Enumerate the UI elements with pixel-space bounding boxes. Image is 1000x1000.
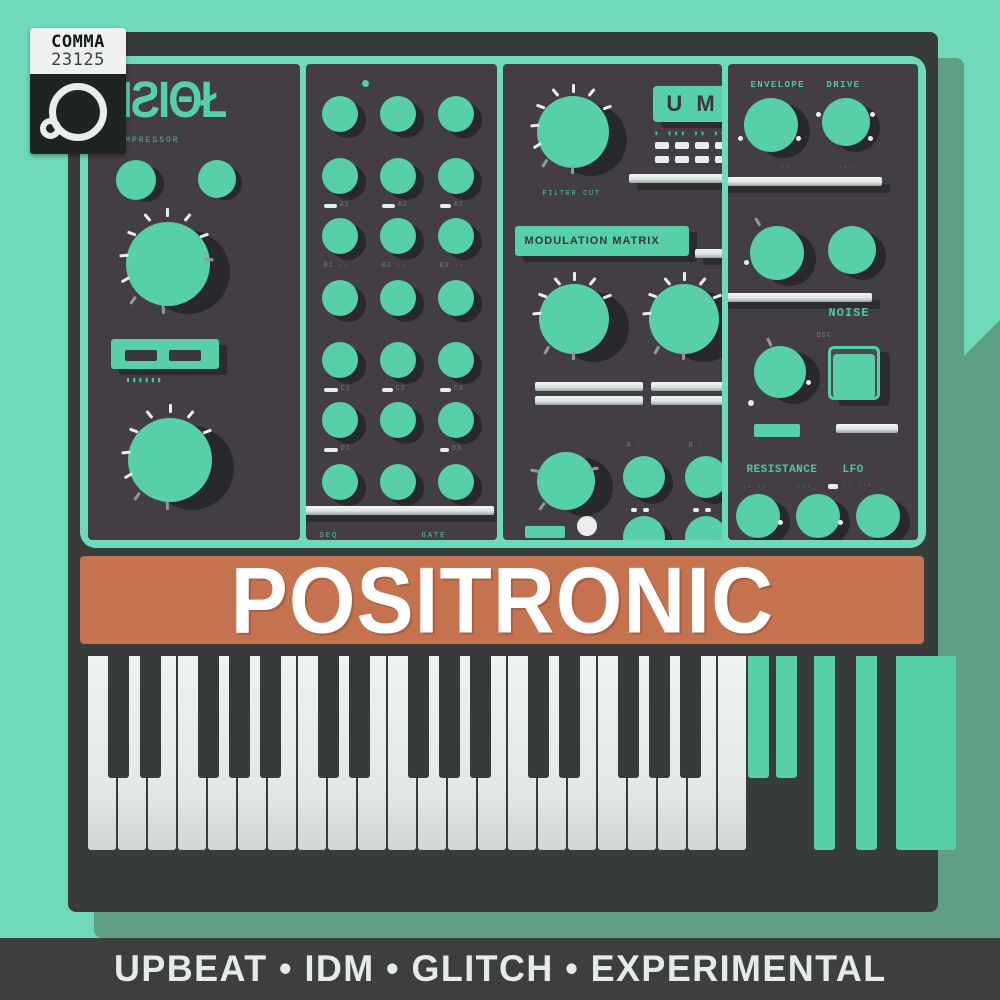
knob-tick [698, 277, 706, 286]
panel-filter: FILTER CUT U M ▮ ▮▮▮ ▮▮ ▮▮ ▮▮ ▮ [503, 64, 723, 540]
accent-key-wide[interactable] [896, 656, 956, 850]
button-mod-d[interactable] [685, 516, 723, 540]
black-key[interactable] [349, 656, 370, 778]
matrix-button[interactable] [380, 218, 416, 254]
knob-tick [538, 293, 547, 299]
chip-caption: ▮▮▮▮▮▮ [126, 376, 163, 385]
black-key[interactable] [198, 656, 219, 778]
status-led [362, 80, 369, 87]
knob-tick [143, 213, 151, 222]
matrix-label: · [382, 445, 387, 453]
knob-tick [767, 337, 774, 346]
badge-brand: COMMA [51, 34, 105, 51]
knob-dot [816, 112, 821, 117]
knob-tick [127, 231, 136, 237]
matrix-bottom-label-left: SEQ [320, 532, 339, 540]
matrix-button[interactable] [438, 158, 474, 194]
level-led-bar [525, 526, 565, 538]
matrix-bottom-label-right: GATE [422, 532, 447, 540]
matrix-button[interactable] [438, 402, 474, 438]
black-key[interactable] [229, 656, 250, 778]
knob-tick [572, 351, 575, 360]
display-seg [655, 142, 669, 149]
matrix-label: B2 ·· [382, 262, 407, 270]
black-key[interactable] [618, 656, 639, 778]
badge-number: 23125 [51, 52, 105, 69]
matrix-button[interactable] [322, 342, 358, 378]
knob-osc-a[interactable] [116, 160, 156, 200]
slider-amp-top[interactable] [728, 177, 882, 186]
matrix-button[interactable] [380, 464, 416, 500]
knob-tick [551, 88, 559, 97]
matrix-label: C2 [396, 385, 406, 393]
matrix-button[interactable] [438, 464, 474, 500]
matrix-label: A1 [340, 201, 350, 209]
amp-sublabel: ·· ·· [742, 484, 767, 492]
display-seg [675, 142, 689, 149]
matrix-button[interactable] [380, 280, 416, 316]
genre-list: UPBEAT • IDM • GLITCH • EXPERIMENTAL [114, 948, 887, 990]
knob-tick [133, 492, 141, 501]
matrix-button[interactable] [380, 158, 416, 194]
knob-tick [166, 208, 169, 217]
amp-led [828, 484, 838, 489]
cluster-label: B · [689, 442, 704, 450]
um-display: U M [653, 86, 723, 122]
knob-tick [587, 88, 595, 97]
amp-sublabel: ··· [796, 484, 811, 492]
knob-tick [129, 428, 138, 434]
knob-tick [169, 404, 172, 413]
black-key[interactable] [649, 656, 670, 778]
knob-tick [162, 305, 165, 314]
matrix-button[interactable] [322, 96, 358, 132]
white-key[interactable] [718, 656, 746, 850]
amp-sublabel: ·· [780, 164, 790, 172]
comma-badge: COMMA 23125 [30, 28, 126, 154]
matrix-label: A3 [454, 201, 464, 209]
accent-black-key[interactable] [748, 656, 769, 778]
black-key[interactable] [318, 656, 339, 778]
matrix-button[interactable] [322, 158, 358, 194]
knob-tick [536, 104, 545, 110]
slider-amp-mid[interactable] [728, 293, 872, 302]
knob-env-level[interactable] [537, 452, 595, 510]
knob-dot [748, 400, 754, 406]
knob-resonance-main[interactable] [128, 418, 212, 502]
button-led [705, 508, 711, 512]
led-seg-b [169, 350, 201, 361]
slider-env-b[interactable] [535, 396, 643, 405]
button-led [643, 508, 649, 512]
matrix-led [440, 448, 449, 452]
display-seg [655, 156, 669, 163]
matrix-led [382, 388, 393, 392]
knob-mod-rate[interactable] [649, 284, 719, 354]
badge-caption: COMMA 23125 [30, 28, 126, 74]
knob-tick [166, 501, 169, 510]
matrix-button[interactable] [322, 402, 358, 438]
amp-label-drive: DRIVE [826, 80, 860, 90]
led-seg-a [125, 350, 157, 361]
display-seg [675, 156, 689, 163]
matrix-label: C3 [454, 385, 464, 393]
black-key[interactable] [559, 656, 580, 778]
knob-tick [653, 345, 660, 354]
amp-label-envelope: ENVELOPE [750, 80, 804, 90]
amp-sublabel: ··· [838, 164, 853, 172]
matrix-led [440, 204, 451, 208]
knob-osc-b[interactable] [198, 160, 236, 198]
matrix-button[interactable] [322, 464, 358, 500]
knob-cutoff-main[interactable] [126, 222, 210, 306]
genre-banner: UPBEAT • IDM • GLITCH • EXPERIMENTAL [0, 938, 1000, 1000]
control-surface: MƧIΘŁ DECOMPRESSOR [80, 56, 926, 548]
amp-label-osc: OSC [816, 332, 831, 340]
matrix-led [324, 204, 337, 208]
black-key[interactable] [260, 656, 281, 778]
panel-amp: ENVELOPE DRIVE ·· ··· [728, 64, 918, 540]
matrix-button[interactable] [322, 218, 358, 254]
matrix-label: C1 [341, 385, 351, 393]
matrix-label: D3 [452, 445, 462, 453]
black-key[interactable] [140, 656, 161, 778]
knob-tick [572, 84, 575, 93]
knob-tick [683, 272, 686, 281]
knob-tick [538, 502, 546, 511]
knob-tick [588, 277, 596, 286]
black-key[interactable] [108, 656, 129, 778]
matrix-led [382, 204, 395, 208]
black-key[interactable] [528, 656, 549, 778]
slider-amp-small[interactable] [836, 424, 898, 433]
matrix-led [324, 388, 338, 392]
amp-label-resistance: RESISTANCE [746, 464, 817, 476]
knob-tick [543, 345, 550, 354]
knob-tick [530, 469, 539, 474]
matrix-led [440, 388, 451, 392]
modulation-plate-label: MODULATION MATRIX [525, 235, 660, 247]
knob-tick [573, 272, 576, 281]
slider-matrix[interactable] [306, 506, 494, 515]
matrix-button[interactable] [438, 96, 474, 132]
display-seg [715, 142, 723, 149]
comma-ring-icon [30, 74, 126, 154]
knob-tick [553, 277, 561, 286]
indicator-dot [577, 516, 597, 536]
button-mod-a[interactable] [623, 456, 665, 498]
knob-tick [145, 410, 153, 419]
matrix-button[interactable] [438, 280, 474, 316]
accent-key[interactable] [814, 656, 835, 850]
matrix-button[interactable] [380, 402, 416, 438]
switch-cap[interactable] [833, 354, 875, 398]
knob-filter-cutoff[interactable] [537, 96, 609, 168]
product-name-plate: POSITRONIC [80, 556, 924, 644]
product-title: POSITRONIC [230, 546, 773, 655]
amp-led-bar [754, 424, 800, 437]
accent-black-key[interactable] [776, 656, 797, 778]
knob-tick [663, 277, 671, 286]
black-key[interactable] [408, 656, 429, 778]
black-key[interactable] [439, 656, 460, 778]
matrix-label: B1 ·· [324, 262, 349, 270]
knob-tick [571, 165, 574, 174]
knob-tick [682, 351, 685, 360]
matrix-label: A2 [398, 201, 408, 209]
knob-tick [541, 159, 548, 168]
matrix-label: B3 ·· [440, 262, 465, 270]
matrix-button[interactable] [322, 280, 358, 316]
knob-tick [755, 217, 762, 226]
matrix-led [324, 448, 338, 452]
black-key[interactable] [470, 656, 491, 778]
panel-matrix: A1 A2 A3 B1 ·· B2 ·· B3 ·· [306, 64, 497, 540]
display-seg [715, 156, 723, 163]
button-led [693, 508, 699, 512]
amp-label-lfo: LFO [842, 464, 863, 476]
cluster-label: A · [627, 442, 642, 450]
knob-tick [648, 293, 657, 299]
display-scale: ▮ ▮▮▮ ▮▮ ▮▮ ▮▮ ▮ [655, 130, 723, 137]
button-led [631, 508, 637, 512]
matrix-button[interactable] [380, 342, 416, 378]
matrix-button[interactable] [438, 342, 474, 378]
accent-key[interactable] [856, 656, 877, 850]
comma-dot-shape [40, 118, 61, 139]
button-mod-c[interactable] [623, 516, 665, 540]
slider-env-d[interactable] [651, 396, 723, 405]
slider-env-a[interactable] [535, 382, 643, 391]
album-cover: MƧIΘŁ DECOMPRESSOR [0, 0, 1000, 1000]
knob-tick [129, 296, 137, 305]
matrix-label: D1 [341, 445, 351, 453]
knob-tick [187, 410, 195, 419]
knob-dot [738, 136, 743, 141]
slider-env-c[interactable] [651, 382, 723, 391]
matrix-button[interactable] [438, 218, 474, 254]
display-seg [695, 142, 709, 149]
knob-mod-depth[interactable] [539, 284, 609, 354]
display-seg [695, 156, 709, 163]
button-mod-b[interactable] [685, 456, 723, 498]
filter-knob-label: FILTER CUT [543, 190, 601, 198]
knob-dot [744, 260, 749, 265]
slider-mod[interactable] [695, 249, 723, 258]
black-key[interactable] [680, 656, 701, 778]
amp-label-noise: NOISE [828, 306, 869, 320]
knob-tick [184, 213, 192, 222]
slider-filter-top[interactable] [629, 174, 723, 183]
matrix-button[interactable] [380, 96, 416, 132]
keyboard [88, 656, 916, 850]
amp-sublabel: ·· ··· [842, 482, 872, 490]
